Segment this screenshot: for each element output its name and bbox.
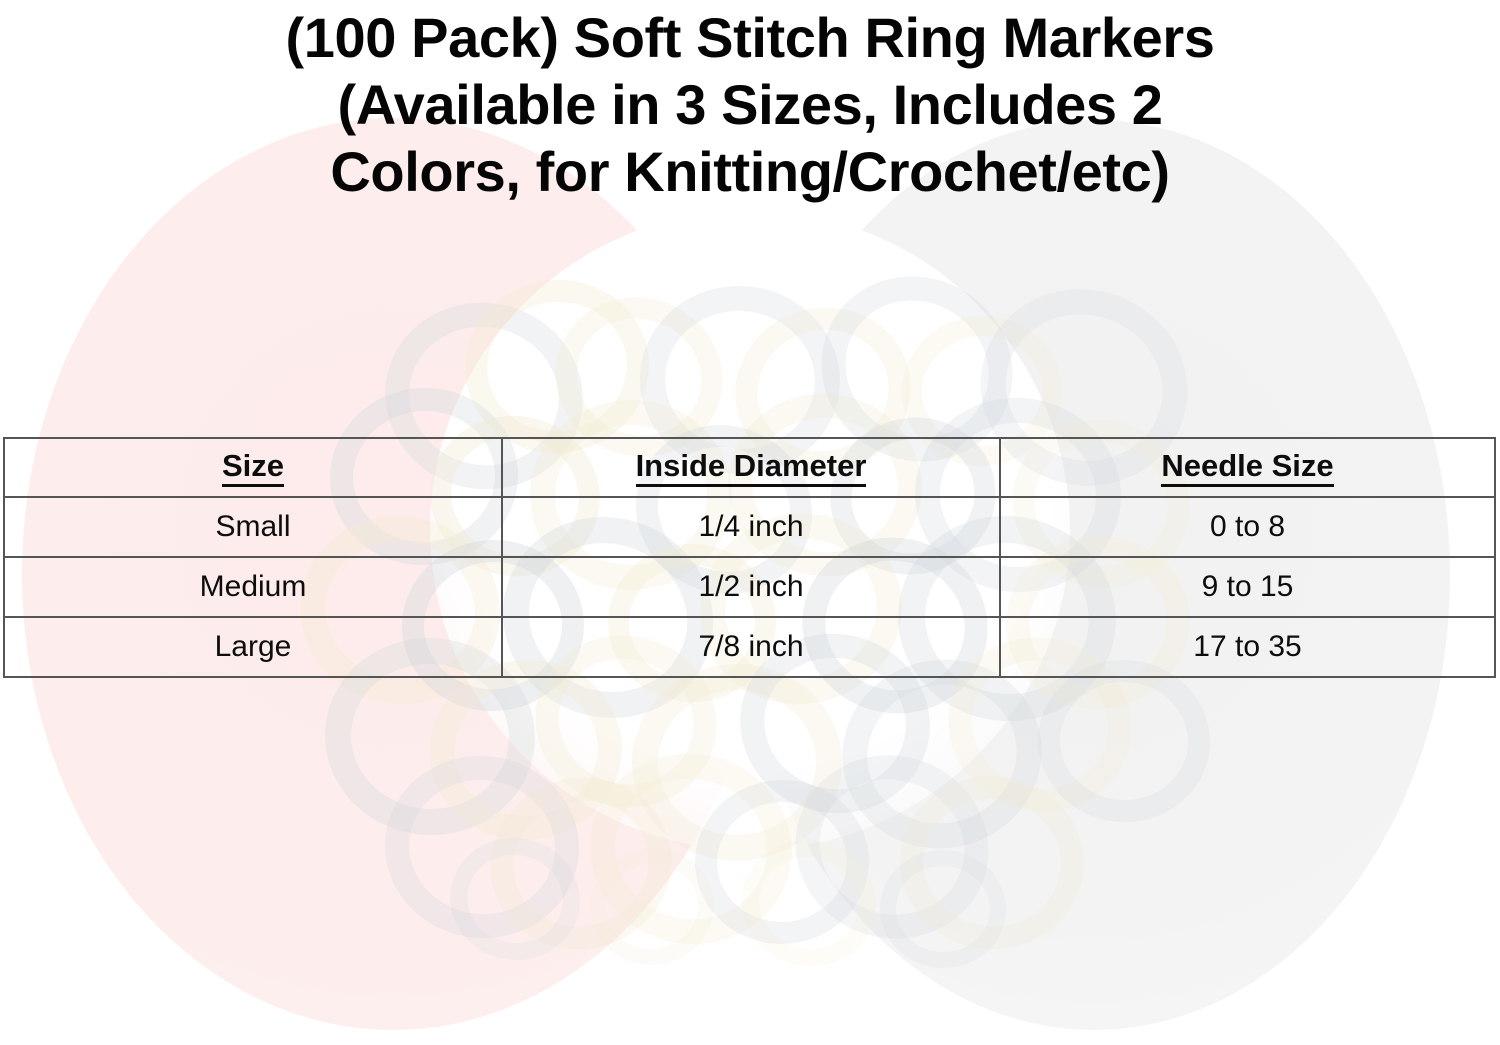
ring-marker bbox=[1033, 654, 1216, 828]
cell-needle-size: 17 to 35 bbox=[1000, 617, 1495, 677]
cell-needle-size: 9 to 15 bbox=[1000, 557, 1495, 617]
ring-marker bbox=[574, 736, 809, 961]
column-header-inside-diameter: Inside Diameter bbox=[502, 438, 1000, 497]
ring-marker bbox=[375, 745, 590, 949]
ring-marker bbox=[771, 729, 1014, 964]
table-header-row: Size Inside Diameter Needle Size bbox=[4, 438, 1495, 497]
cell-inside-diameter: 1/4 inch bbox=[502, 497, 1000, 557]
cell-inside-diameter: 1/2 inch bbox=[502, 557, 1000, 617]
size-chart-body: Small 1/4 inch 0 to 8 Medium 1/2 inch 9 … bbox=[4, 497, 1495, 677]
product-title-line-2: (Available in 3 Sizes, Includes 2 bbox=[0, 71, 1500, 138]
ring-marker bbox=[632, 664, 842, 861]
product-image-canvas: (100 Pack) Soft Stitch Ring Markers (Ava… bbox=[0, 0, 1500, 1045]
cell-size: Medium bbox=[4, 557, 502, 617]
size-chart-header: Size Inside Diameter Needle Size bbox=[4, 438, 1495, 497]
ring-marker bbox=[691, 776, 873, 949]
ring-marker bbox=[582, 840, 721, 973]
table-row: Small 1/4 inch 0 to 8 bbox=[4, 497, 1495, 557]
ring-marker bbox=[891, 767, 1092, 958]
ring-marker bbox=[440, 828, 589, 971]
ring-marker bbox=[470, 756, 692, 971]
product-title-line-1: (100 Pack) Soft Stitch Ring Markers bbox=[0, 4, 1500, 71]
table-row: Large 7/8 inch 17 to 35 bbox=[4, 617, 1495, 677]
cell-inside-diameter: 7/8 inch bbox=[502, 617, 1000, 677]
product-title: (100 Pack) Soft Stitch Ring Markers (Ava… bbox=[0, 0, 1500, 205]
column-header-size: Size bbox=[4, 438, 502, 497]
cell-size: Large bbox=[4, 617, 502, 677]
ring-marker bbox=[729, 826, 890, 981]
column-header-needle-size: Needle Size bbox=[1000, 438, 1495, 497]
cell-size: Small bbox=[4, 497, 502, 557]
cell-needle-size: 0 to 8 bbox=[1000, 497, 1495, 557]
ring-marker bbox=[877, 847, 1009, 971]
ring-marker bbox=[454, 268, 660, 465]
product-title-line-3: Colors, for Knitting/Crochet/etc) bbox=[0, 138, 1500, 205]
size-chart-table: Size Inside Diameter Needle Size Small 1… bbox=[3, 437, 1496, 678]
table-row: Medium 1/2 inch 9 to 15 bbox=[4, 557, 1495, 617]
